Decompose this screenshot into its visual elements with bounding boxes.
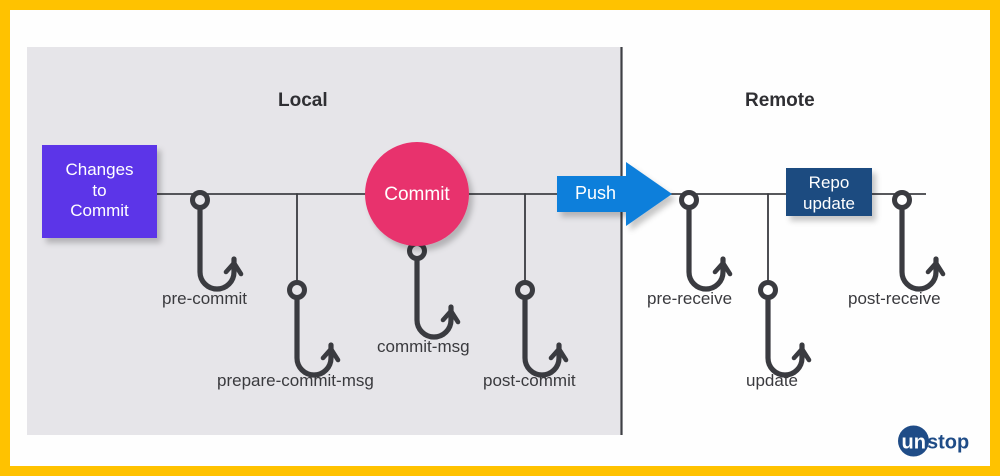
unstop-logo-tail-text: stop	[927, 432, 969, 454]
git-hooks-svg	[10, 10, 990, 466]
unstop-logo[interactable]: un stop	[894, 424, 990, 458]
hook-label-pre-commit: pre-commit	[162, 290, 247, 309]
unstop-logo-mark-text: un	[902, 432, 926, 454]
hook-label-prepare-commit-msg: prepare-commit-msg	[217, 372, 374, 391]
diagram-stage: Local Remote Changes to Commit Commit Pu…	[10, 10, 990, 466]
hook-label-pre-receive: pre-receive	[647, 290, 732, 309]
hook-update-shape	[761, 283, 810, 376]
hook-label-commit-msg: commit-msg	[377, 338, 470, 357]
push-label: Push	[575, 183, 616, 204]
commit-label: Commit	[365, 184, 469, 206]
hook-pre-receive	[682, 193, 731, 290]
diagram-frame: Local Remote Changes to Commit Commit Pu…	[10, 10, 990, 466]
hook-label-update: update	[746, 372, 798, 391]
section-title-local: Local	[278, 90, 328, 112]
hook-post-receive	[895, 193, 944, 290]
repo-update-label: Repo update	[786, 173, 872, 214]
section-title-remote: Remote	[745, 90, 815, 112]
hook-label-post-commit: post-commit	[483, 372, 576, 391]
changes-to-commit-label: Changes to Commit	[42, 160, 157, 222]
hook-label-post-receive: post-receive	[848, 290, 941, 309]
